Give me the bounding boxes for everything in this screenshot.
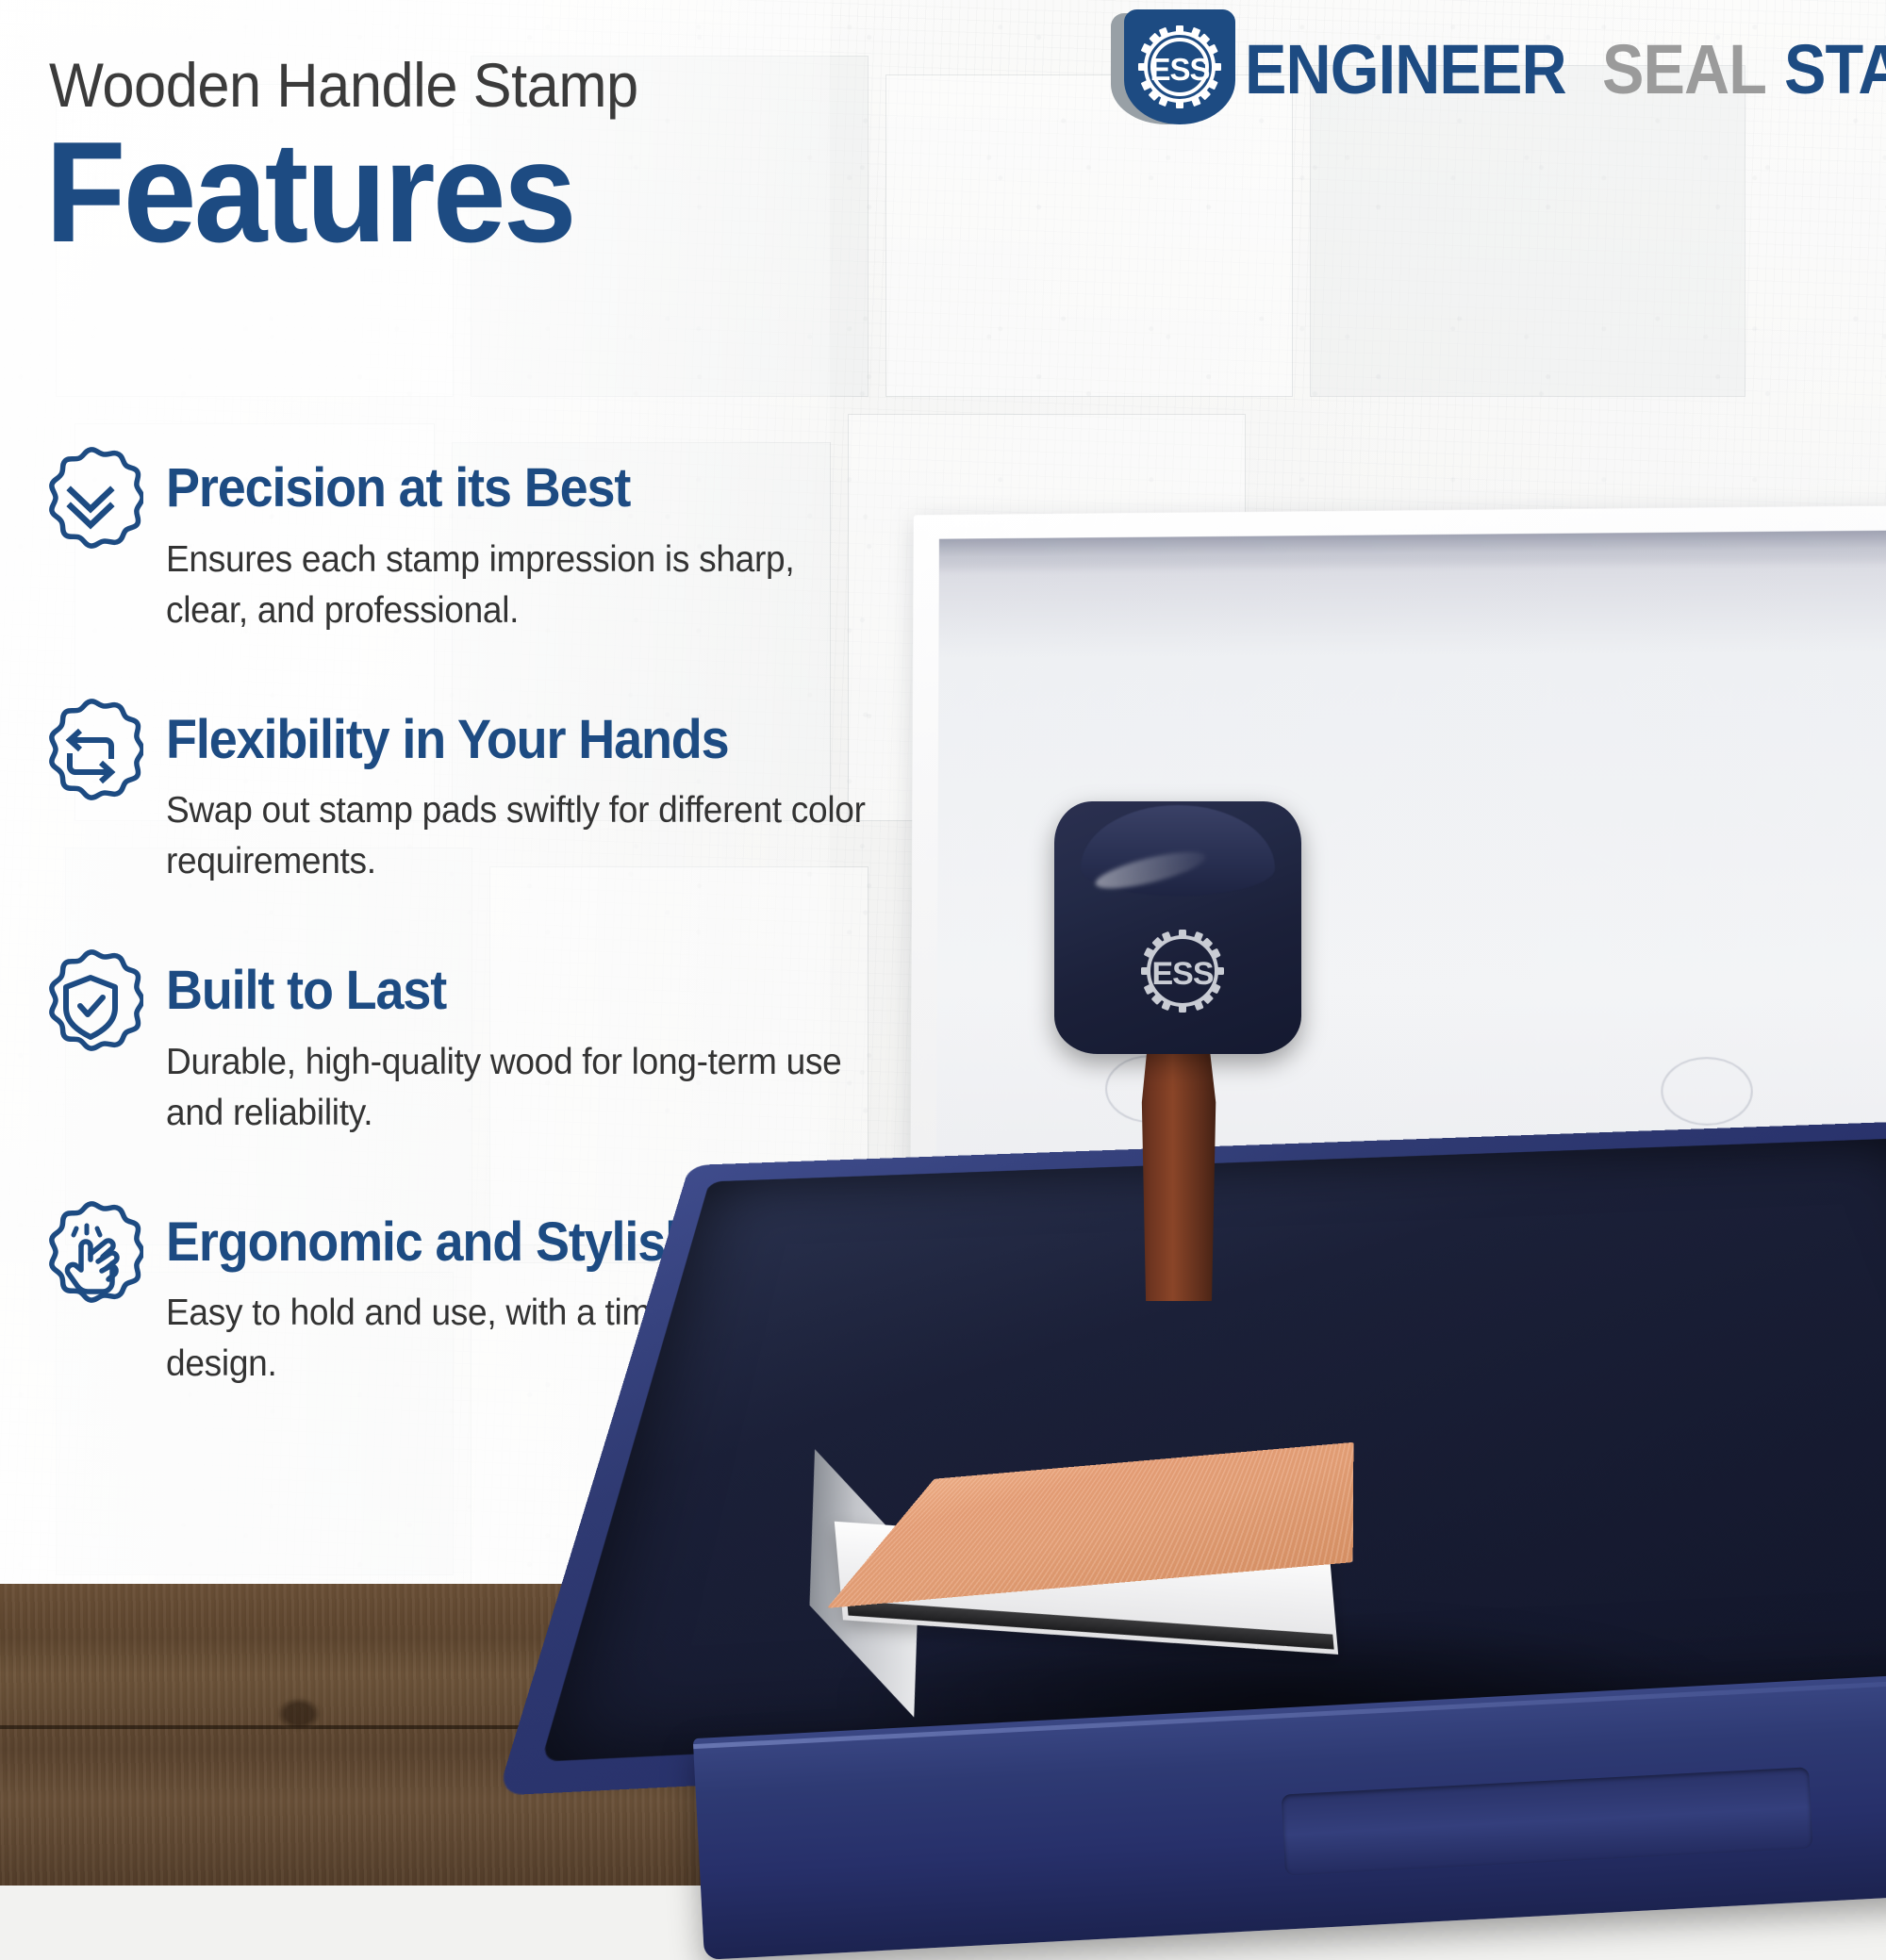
feature-description: Swap out stamp pads swiftly for differen… [166, 785, 874, 887]
feature-item: Built to Last Durable, high-quality wood… [38, 946, 1037, 1139]
svg-text:ESS: ESS [1151, 956, 1213, 992]
svg-text:ESS: ESS [1150, 52, 1209, 87]
page-kicker: Wooden Handle Stamp [49, 49, 638, 121]
product-photo: ESS [924, 509, 1886, 1886]
feature-description: Durable, high-quality wood for long-term… [166, 1037, 874, 1139]
ess-badge-icon: ESS [1111, 9, 1232, 130]
brand-logo[interactable]: ESS ENGINEER SEAL STAMPS .COM [1111, 9, 1865, 130]
brand-word-stamps: STAMPS [1784, 35, 1886, 105]
hand-tap-badge-icon [38, 1197, 143, 1322]
feature-text: Built to Last Durable, high-quality wood… [166, 946, 911, 1139]
stamp-handle: ESS [1037, 801, 1320, 1386]
wood-knot [273, 1695, 324, 1733]
feature-item: Precision at its Best Ensures each stamp… [38, 443, 1037, 636]
feature-title: Precision at its Best [166, 460, 859, 518]
swap-arrows-badge-icon [38, 695, 143, 819]
page-title: Features [45, 121, 574, 264]
badge-gear-icon: ESS [1124, 9, 1235, 124]
brand-word-seal: SEAL [1602, 35, 1766, 105]
feature-text: Flexibility in Your Hands Swap out stamp… [166, 695, 911, 888]
feature-title: Built to Last [166, 963, 859, 1020]
handle-ess-gear-icon: ESS [1124, 913, 1241, 1029]
feature-item: Flexibility in Your Hands Swap out stamp… [38, 695, 1037, 888]
feature-text: Precision at its Best Ensures each stamp… [166, 443, 911, 636]
brand-word-engineer: ENGINEER [1245, 35, 1566, 105]
box-lid-emboss-ring [1661, 1057, 1752, 1126]
box-base-front-notch [1282, 1767, 1813, 1875]
shield-check-badge-icon [38, 946, 143, 1070]
feature-description: Ensures each stamp impression is sharp, … [166, 535, 874, 636]
brand-wordmark: ENGINEER SEAL STAMPS .COM [1245, 0, 1886, 171]
double-chevron-down-badge-icon [38, 443, 143, 568]
feature-title: Flexibility in Your Hands [166, 712, 859, 769]
